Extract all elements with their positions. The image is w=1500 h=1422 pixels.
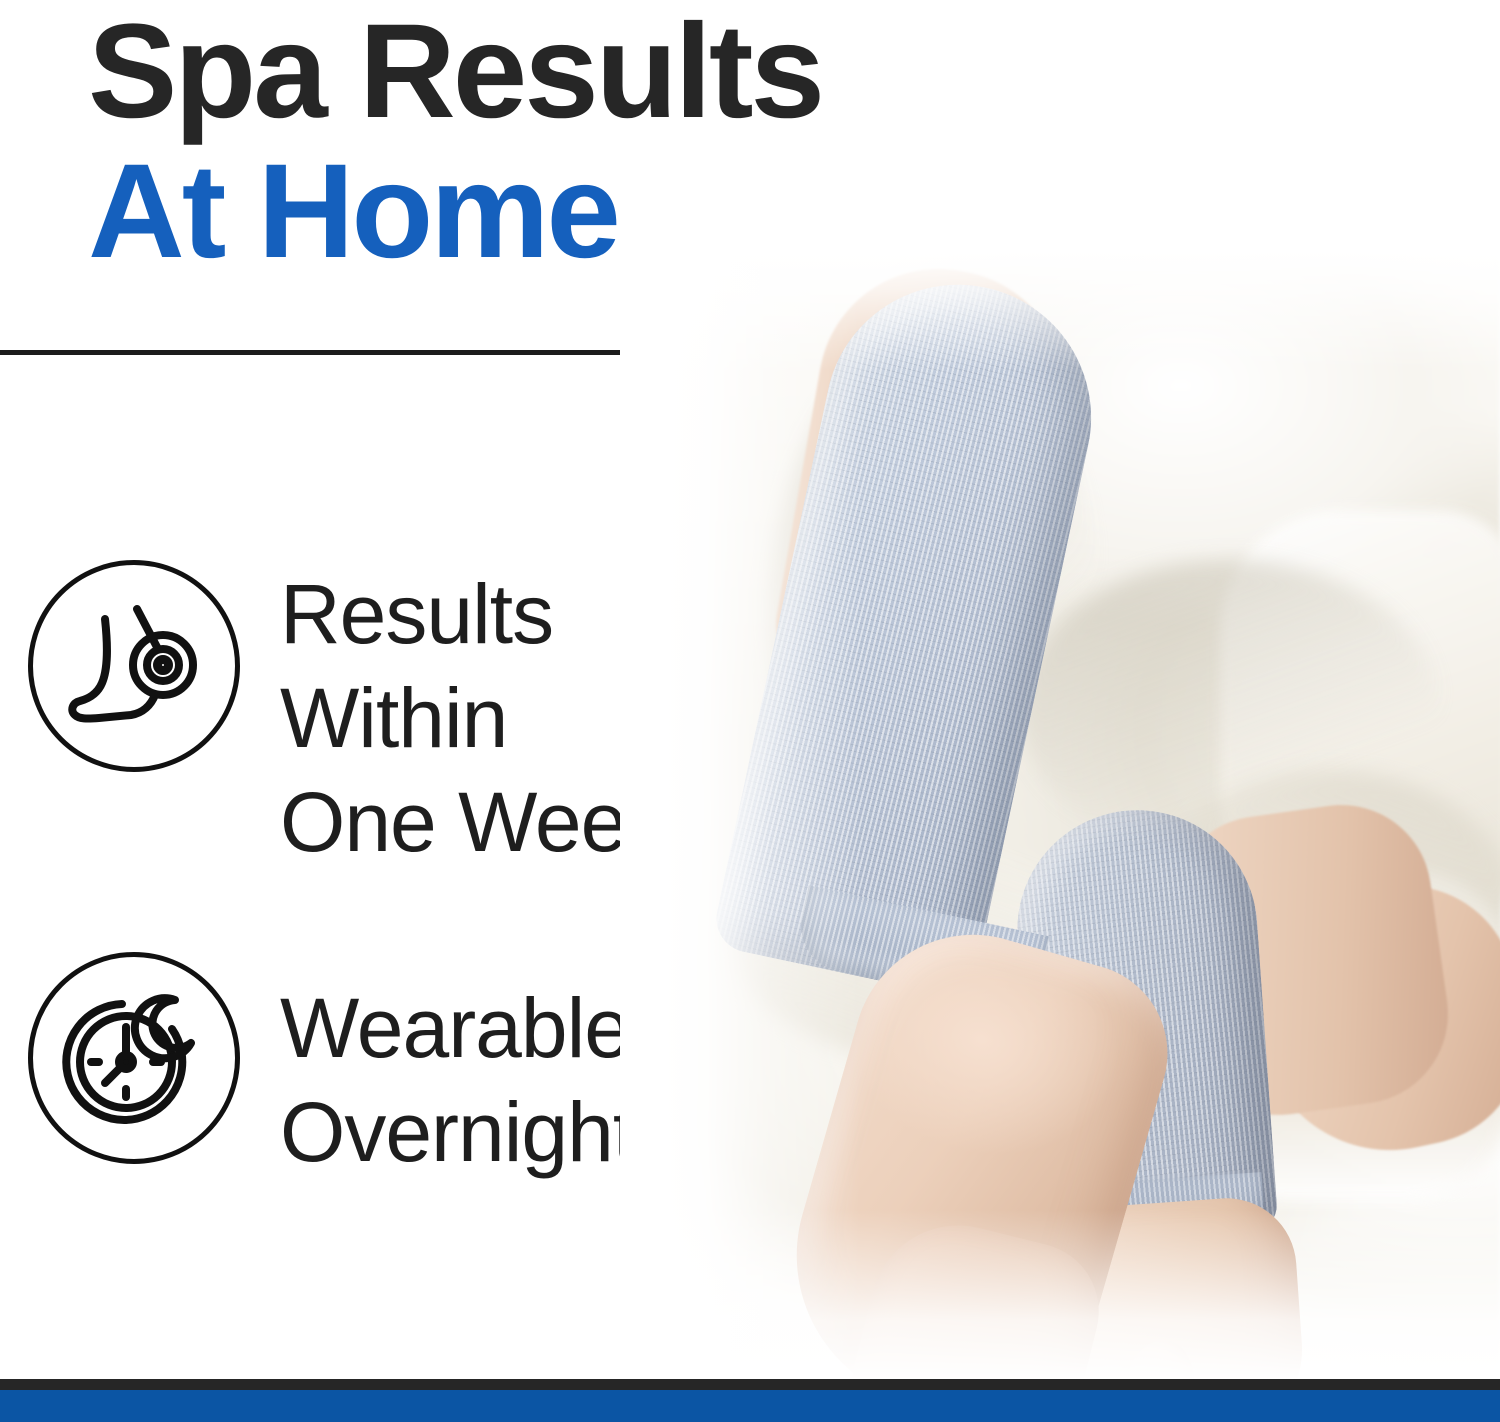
footer-blue-bar xyxy=(0,1390,1500,1422)
feature-results-within-one-week: Results Within One Week xyxy=(28,560,667,874)
page-title: Spa Results At Home xyxy=(88,2,822,282)
divider xyxy=(0,350,716,355)
feature-label: Results Within One Week xyxy=(280,560,667,874)
headline-line-1: Spa Results xyxy=(88,2,822,142)
footer-dark-bar xyxy=(0,1379,1500,1390)
product-photo xyxy=(620,250,1500,1380)
foot-pressure-point-icon xyxy=(28,560,240,772)
feature-wearable-overnight: Wearable Overnight xyxy=(28,952,635,1184)
promo-banner: Spa Results At Home Results Within One W… xyxy=(0,0,1500,1422)
clock-moon-icon xyxy=(28,952,240,1164)
feature-label: Wearable Overnight xyxy=(280,952,635,1184)
